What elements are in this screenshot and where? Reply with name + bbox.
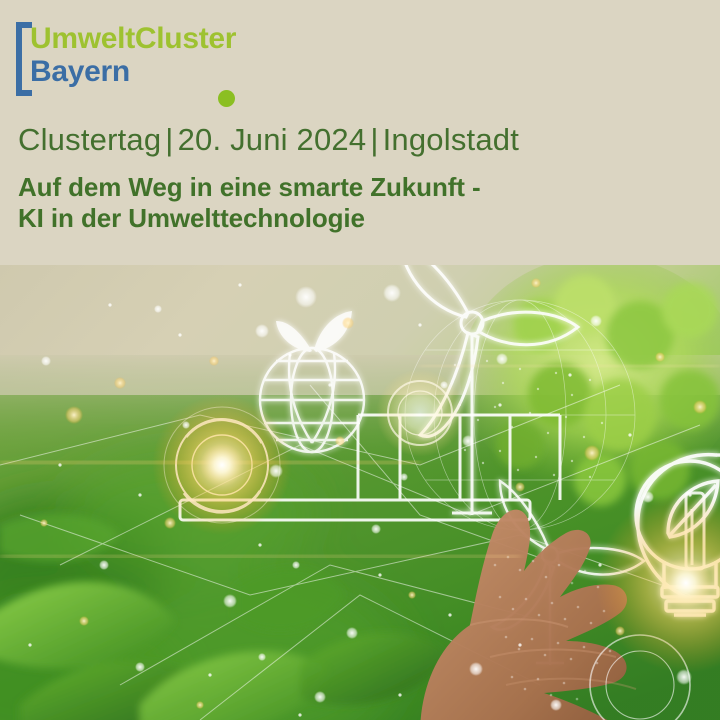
logo-word-umwelt: Umwelt <box>30 22 135 55</box>
poster-canvas: UmweltCluster Bayern Clustertag|20. Juni… <box>0 0 720 720</box>
page-title: Auf dem Weg in eine smarte Zukunft - KI … <box>18 172 678 234</box>
event-date: 20. Juni 2024 <box>178 122 367 157</box>
event-info-line: Clustertag|20. Juni 2024|Ingolstadt <box>18 122 519 158</box>
hero-photo <box>0 265 720 720</box>
logo-line-one: UmweltCluster <box>30 22 236 56</box>
headline-line-two: KI in der Umwelttechnologie <box>18 203 678 234</box>
green-dot-icon <box>218 90 235 107</box>
event-type-label: Clustertag <box>18 122 161 157</box>
logo-word-cluster: Cluster <box>135 22 236 55</box>
event-separator-2: | <box>366 122 382 157</box>
event-separator-1: | <box>161 122 177 157</box>
header-band: UmweltCluster Bayern Clustertag|20. Juni… <box>0 0 720 265</box>
hero-artwork-svg <box>0 265 720 720</box>
logo-word-bayern: Bayern <box>30 55 130 89</box>
event-city: Ingolstadt <box>383 122 519 157</box>
umweltcluster-bayern-logo: UmweltCluster Bayern <box>16 22 276 98</box>
headline-line-one: Auf dem Weg in eine smarte Zukunft - <box>18 172 678 203</box>
